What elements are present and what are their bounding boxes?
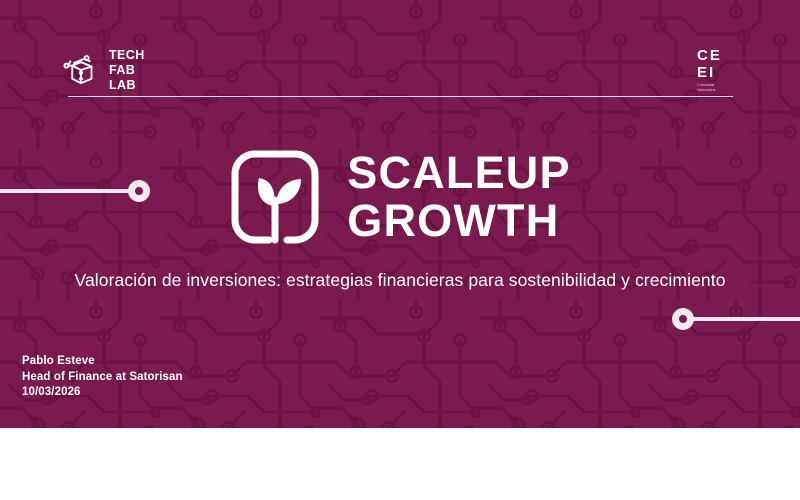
- ceei-letter-c: C: [697, 48, 708, 63]
- speaker-role: Head of Finance at Satorisan: [22, 370, 183, 386]
- tech-fab-lab-logo: TECH FAB LAB: [60, 48, 145, 92]
- brand-wordmark: SCALEUP GROWTH: [347, 149, 570, 244]
- header-divider: [68, 96, 733, 97]
- ceei-letter-e2: E: [697, 65, 707, 80]
- speaker-name: Pablo Esteve: [22, 354, 183, 370]
- sprout-in-rounded-square-icon: [229, 148, 321, 246]
- speaker-date: 10/03/2026: [22, 385, 183, 401]
- brand-line-2: GROWTH: [347, 197, 570, 245]
- ceei-letter-e1: E: [710, 48, 720, 63]
- tfl-line-3: LAB: [109, 78, 145, 93]
- tfl-line-1: TECH: [109, 48, 145, 63]
- tfl-line-2: FAB: [109, 63, 145, 78]
- brand-line-1: SCALEUP: [347, 149, 570, 197]
- speaker-block: Pablo Esteve Head of Finance at Satorisa…: [22, 354, 183, 401]
- brand-lockup: SCALEUP GROWTH: [0, 148, 800, 246]
- ceei-subtitle: Comunitat Valenciana: [697, 83, 745, 94]
- tech-fab-lab-box-icon: [60, 49, 102, 91]
- hero-panel: TECH FAB LAB C E E I Comunitat Valencian…: [0, 0, 800, 428]
- slide-subtitle: Valoración de inversiones: estrategias f…: [0, 270, 800, 291]
- ceei-subtitle-line-2: Valenciana: [697, 88, 745, 93]
- ceei-logo: C E E I Comunitat Valenciana: [697, 48, 745, 94]
- presentation-slide: TECH FAB LAB C E E I Comunitat Valencian…: [0, 0, 800, 500]
- footer-logo-bar: Financiado por la Unión Europea NextGene…: [0, 428, 800, 500]
- tech-fab-lab-wordmark: TECH FAB LAB: [109, 48, 145, 92]
- lead-line-right: [688, 317, 800, 321]
- ceei-letter-i: I: [709, 65, 713, 80]
